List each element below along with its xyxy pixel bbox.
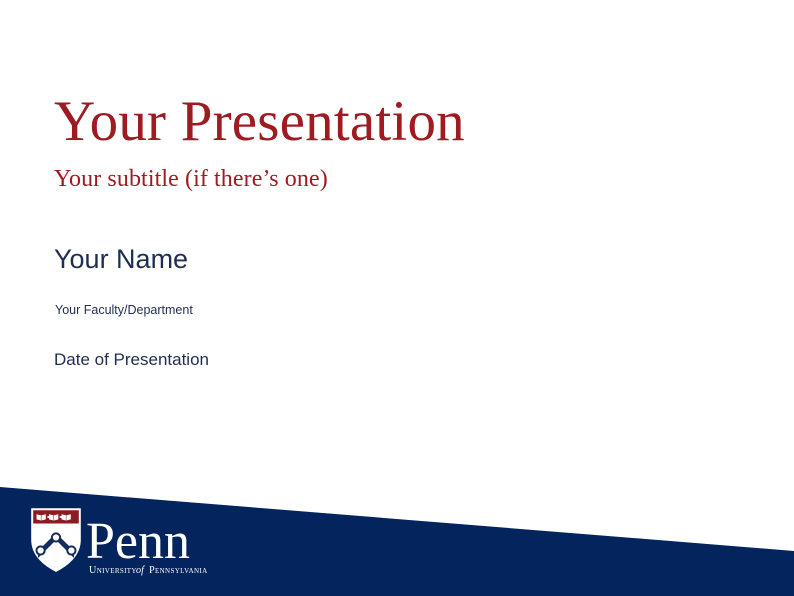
slide-subtitle: Your subtitle (if there’s one)	[54, 165, 744, 194]
page-title: Your Presentation	[54, 92, 744, 152]
title-text-block: Your Presentation Your subtitle (if ther…	[54, 92, 744, 194]
penn-shield-icon	[32, 509, 80, 571]
penn-tagline: University of Pennsylvania	[89, 565, 207, 576]
presentation-date: Date of Presentation	[54, 350, 209, 370]
presenter-name: Your Name	[54, 244, 188, 275]
tagline-of: of	[136, 565, 145, 576]
presenter-department: Your Faculty/Department	[55, 303, 193, 317]
penn-wordmark: Penn	[86, 513, 190, 570]
tagline-university: University	[89, 565, 137, 576]
title-slide: Your Presentation Your subtitle (if ther…	[0, 0, 794, 596]
penn-logo: Penn University of Pennsylvania	[28, 506, 228, 578]
tagline-pennsylvania: Pennsylvania	[149, 565, 207, 576]
